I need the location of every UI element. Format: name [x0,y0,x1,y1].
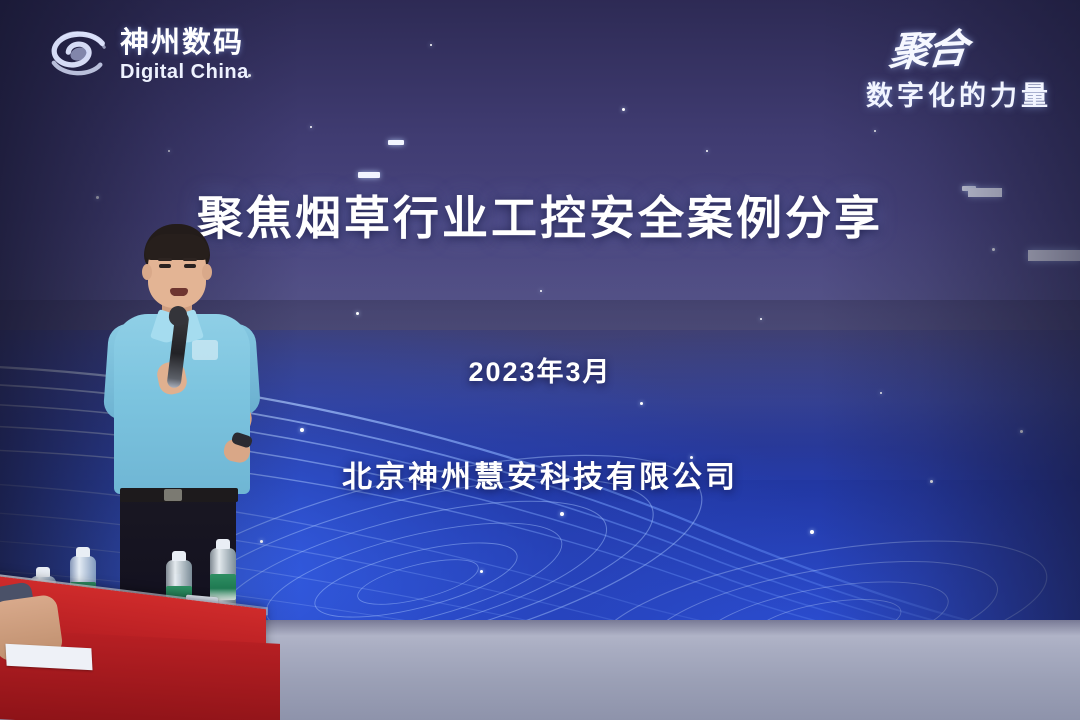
document-paper [5,644,92,671]
speaker-eyebrow-left [158,258,172,261]
particle-dash [388,140,404,145]
event-slogan: 聚合 数字化的力量 [866,18,1052,113]
bottle-cap [216,539,230,549]
particle-dot [810,530,814,534]
speaker-ear-left [142,264,152,280]
particle-dash [358,172,380,178]
particle-dot [356,312,359,315]
brand-logo-text: 神州数码 Digital China [120,29,249,82]
particle-dot [560,512,564,516]
particle-dot [300,428,304,432]
brand-name-en: Digital China [120,62,249,82]
particle-dot [540,290,542,292]
conference-stage-scene: 神州数码 Digital China 聚合 数字化的力量 聚焦烟草行业工控安全案… [0,0,1080,720]
speaker-person [96,224,296,624]
particle-dot [622,108,625,111]
speaker-ear-right [202,264,212,280]
brand-logo: 神州数码 Digital China [48,24,249,86]
particle-dot [480,570,483,573]
speaker-eye-right [184,264,196,268]
slogan-headline: 聚合 [887,16,970,78]
particle-dot [430,44,432,46]
speaker-hair-front [145,234,209,260]
slogan-subline: 数字化的力量 [866,74,1052,113]
digital-china-swirl-logo-icon [48,24,110,86]
brand-name-cn: 神州数码 [120,29,249,58]
bottle-cap [172,551,186,561]
particle-dot [310,126,312,128]
particle-dot [640,402,643,405]
particle-dot [760,318,762,320]
speaker-mouth [170,288,188,296]
speaker-chest-logo [192,340,218,360]
bottle-cap [36,567,50,577]
speaker-eyebrow-right [183,258,197,261]
speaker-belt-buckle [164,489,182,501]
particle-dot [706,150,708,152]
speaker-eye-left [159,264,171,268]
bottle-cap [76,547,90,557]
